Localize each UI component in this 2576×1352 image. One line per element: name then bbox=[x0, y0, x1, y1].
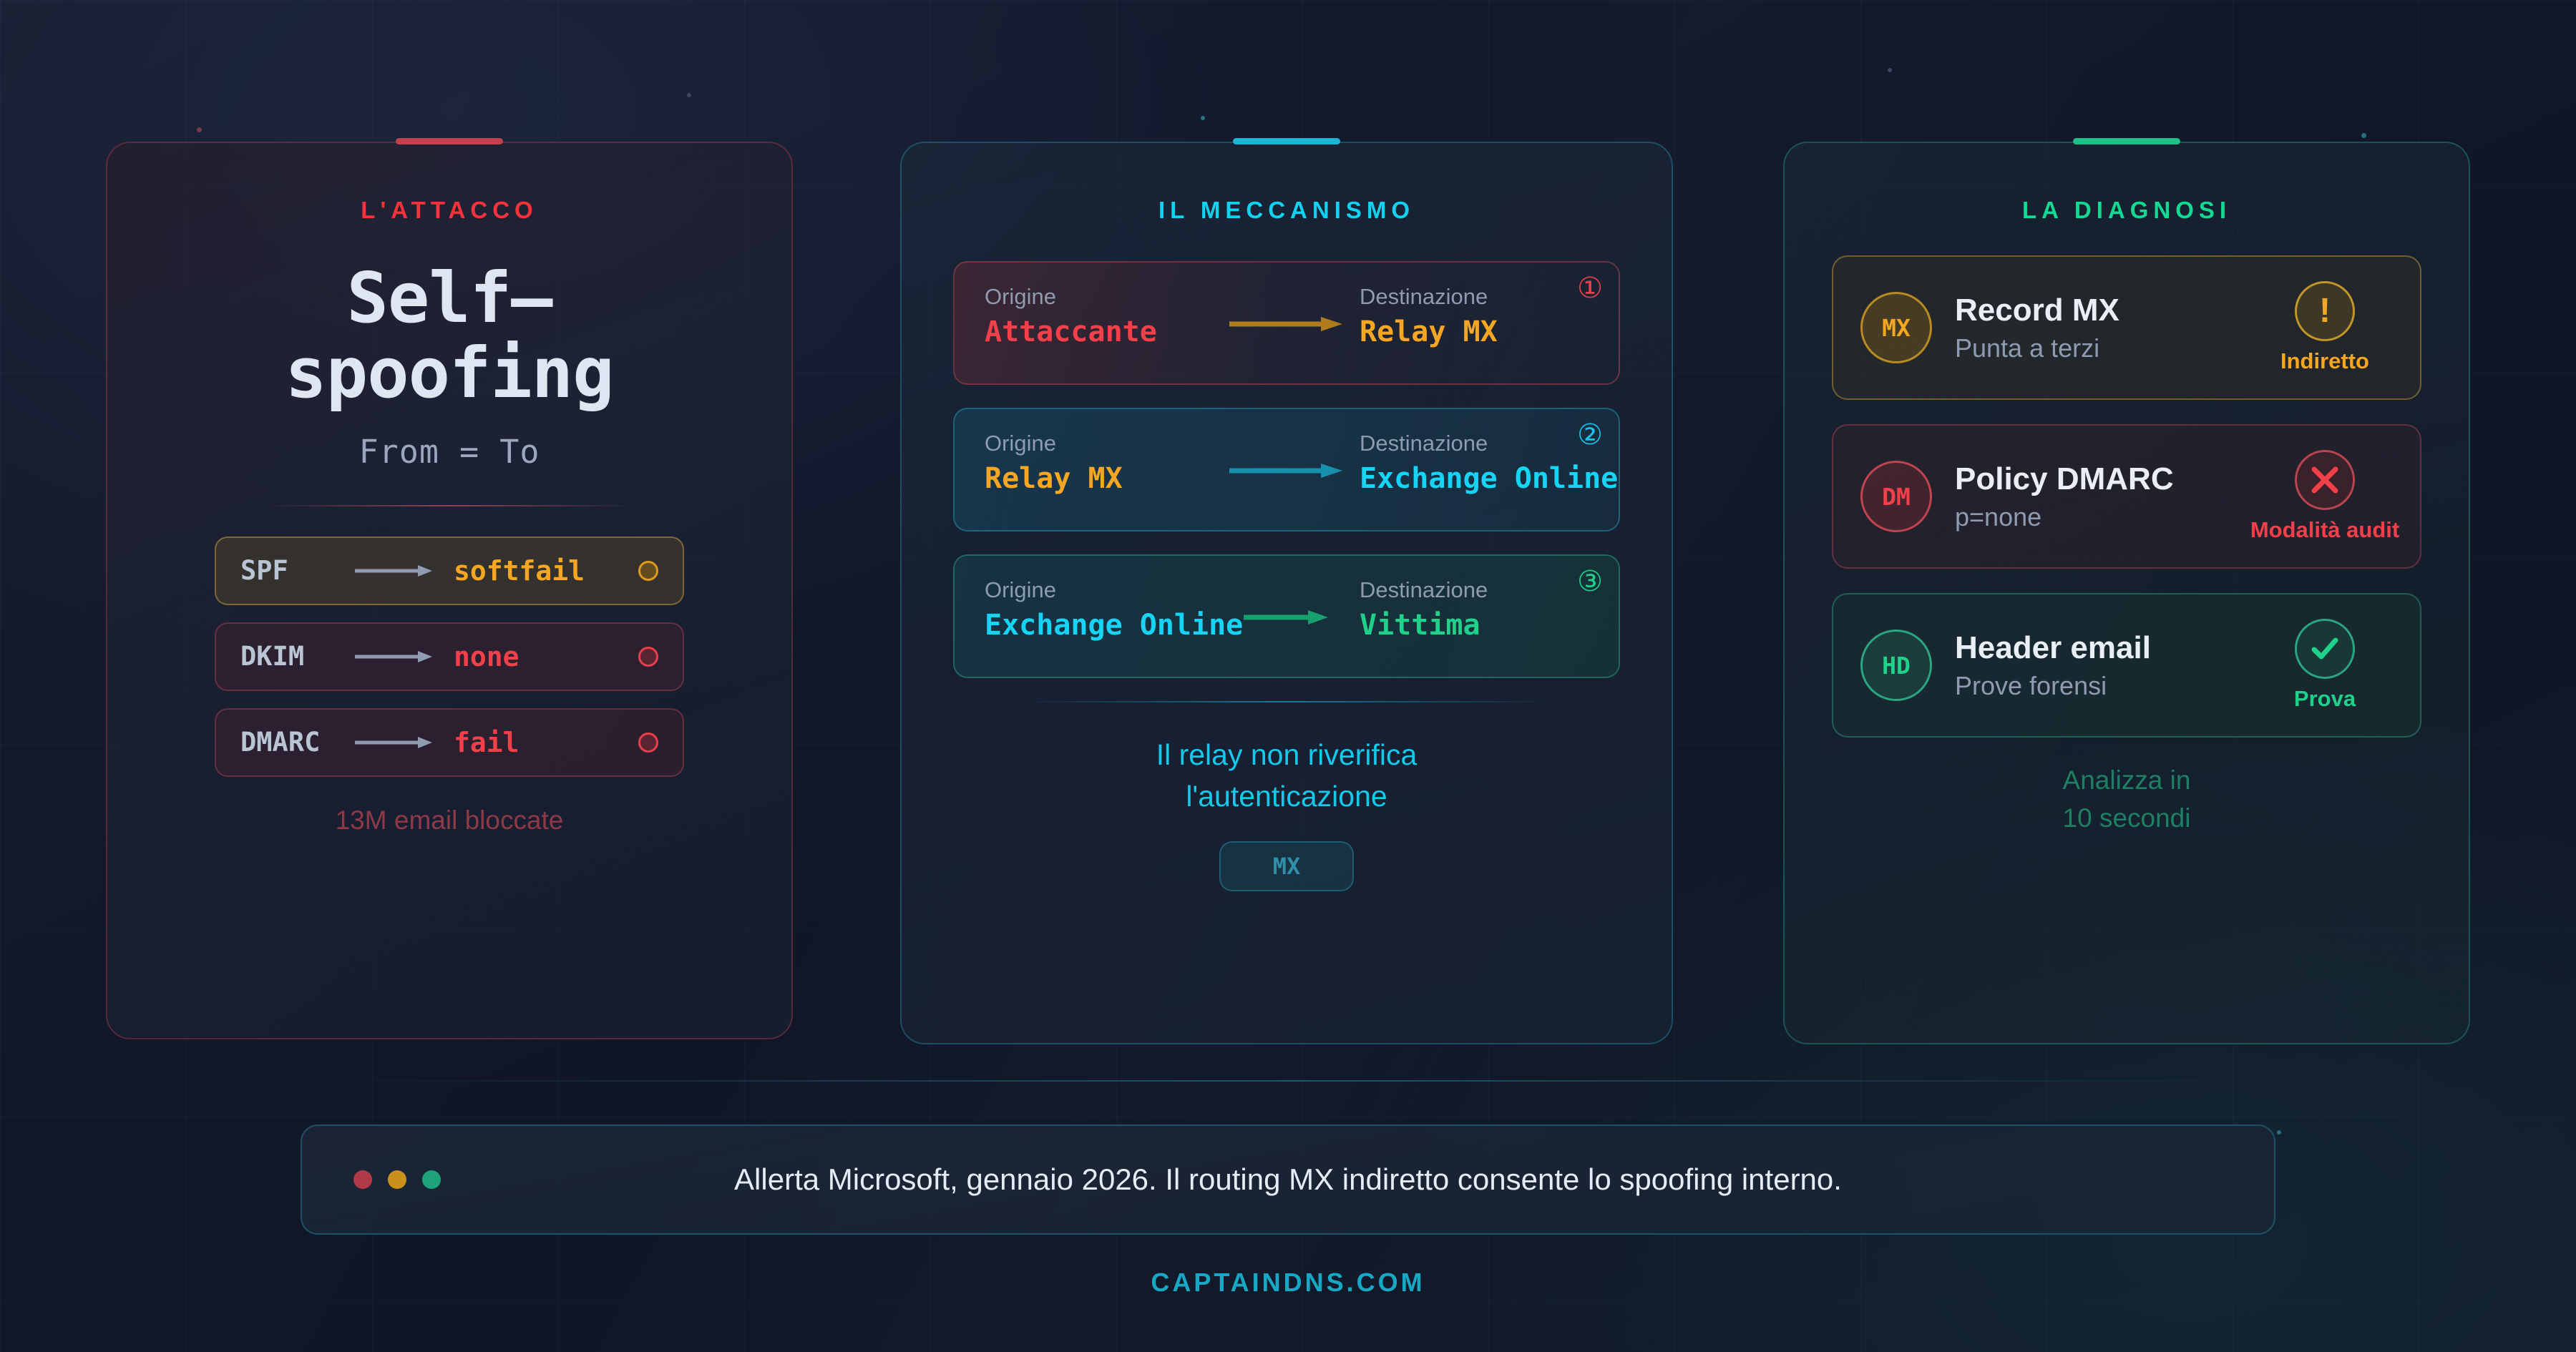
mechanism-card: IL MECCANISMO ① Origine Attaccante bbox=[900, 142, 1673, 1044]
mechanism-note-line2: l'autenticazione bbox=[952, 775, 1621, 817]
step-origin: Origine Attaccante bbox=[985, 284, 1214, 348]
mechanism-note: Il relay non riverifica l'autenticazione bbox=[902, 734, 1672, 817]
mx-badge: MX bbox=[1860, 292, 1932, 363]
diagnosis-row-mx: MX Record MX Punta a terzi ! Indiretto bbox=[1832, 255, 2421, 400]
window-dot-red bbox=[353, 1170, 372, 1189]
mechanism-divider bbox=[1022, 701, 1551, 702]
step-row-2: ② Origine Relay MX Destinazione bbox=[953, 408, 1620, 532]
arrow-right-icon bbox=[1214, 431, 1360, 479]
mechanism-eyebrow: IL MECCANISMO bbox=[902, 197, 1672, 224]
status-dot-icon bbox=[638, 647, 658, 667]
step-origin: Origine Exchange Online bbox=[985, 577, 1214, 642]
auth-row-value: fail bbox=[441, 727, 638, 758]
arrow-right-icon bbox=[355, 650, 441, 664]
auth-row-label: SPF bbox=[240, 555, 355, 586]
diagnosis-row-subtitle: Prove forensi bbox=[1955, 671, 2257, 701]
diagnosis-row-dmarc: DM Policy DMARC p=none Modalità audit bbox=[1832, 424, 2421, 569]
attack-divider bbox=[263, 505, 635, 506]
step-origin-value: Exchange Online bbox=[985, 609, 1214, 642]
attack-footnote: 13M email bloccate bbox=[107, 805, 791, 836]
window-dot-amber bbox=[388, 1170, 406, 1189]
attack-title: Self– spoofing bbox=[107, 261, 791, 411]
step-origin-caption: Origine bbox=[985, 431, 1214, 456]
cross-icon bbox=[2295, 450, 2355, 510]
step-origin-caption: Origine bbox=[985, 284, 1214, 310]
diagnosis-row-title: Header email bbox=[1955, 630, 2257, 666]
step-origin-caption: Origine bbox=[985, 577, 1214, 603]
diagnosis-list: MX Record MX Punta a terzi ! Indiretto D… bbox=[1785, 255, 2469, 738]
attack-subtitle: From = To bbox=[107, 433, 791, 471]
diagnosis-footnote-line2: 10 secondi bbox=[1785, 800, 2469, 838]
bottom-divider bbox=[321, 1080, 2267, 1082]
attack-title-line2: spoofing bbox=[136, 336, 763, 411]
auth-row-label: DKIM bbox=[240, 641, 355, 672]
step-destination: Destinazione Exchange Online bbox=[1360, 431, 1589, 495]
status-badge: Indiretto bbox=[2280, 348, 2369, 374]
diagnosis-row-subtitle: Punta a terzi bbox=[1955, 333, 2257, 363]
arrow-right-icon bbox=[355, 564, 441, 578]
diagnosis-row-title: Record MX bbox=[1955, 293, 2257, 328]
window-dots bbox=[353, 1170, 441, 1189]
diagnosis-card: LA DIAGNOSI MX Record MX Punta a terzi !… bbox=[1783, 142, 2470, 1044]
attack-eyebrow: L'ATTACCO bbox=[107, 197, 791, 224]
step-destination: Destinazione Vittima bbox=[1360, 577, 1589, 642]
step-origin: Origine Relay MX bbox=[985, 431, 1214, 495]
status-badge: Modalità audit bbox=[2250, 517, 2399, 543]
hd-badge: HD bbox=[1860, 630, 1932, 701]
auth-row-value: softfail bbox=[441, 555, 638, 587]
attack-title-line1: Self– bbox=[136, 261, 763, 336]
step-destination-value: Exchange Online bbox=[1360, 462, 1589, 495]
arrow-right-icon bbox=[355, 735, 441, 750]
auth-result-list: SPF softfail DKIM no bbox=[107, 537, 791, 777]
diagnosis-footnote: Analizza in 10 secondi bbox=[1785, 762, 2469, 837]
step-origin-value: Relay MX bbox=[985, 462, 1214, 495]
dm-badge: DM bbox=[1860, 461, 1932, 532]
step-destination: Destinazione Relay MX bbox=[1360, 284, 1589, 348]
card-accent-bar bbox=[2073, 138, 2180, 144]
diagnosis-footnote-line1: Analizza in bbox=[1785, 762, 2469, 800]
diagnosis-row-header: HD Header email Prove forensi Prova bbox=[1832, 593, 2421, 738]
arrow-right-icon bbox=[1214, 577, 1360, 626]
step-row-1: ① Origine Attaccante Destinazione bbox=[953, 261, 1620, 385]
arrow-right-icon bbox=[1214, 284, 1360, 333]
alert-banner: Allerta Microsoft, gennaio 2026. Il rout… bbox=[301, 1125, 2275, 1235]
step-destination-value: Relay MX bbox=[1360, 315, 1589, 348]
attack-card: L'ATTACCO Self– spoofing From = To SPF s… bbox=[106, 142, 793, 1039]
auth-row-value: none bbox=[441, 641, 638, 672]
status-dot-icon bbox=[638, 561, 658, 581]
status-dot-icon bbox=[638, 733, 658, 753]
step-origin-value: Attaccante bbox=[985, 315, 1214, 348]
step-row-3: ③ Origine Exchange Online Destinazione bbox=[953, 554, 1620, 678]
step-destination-caption: Destinazione bbox=[1360, 431, 1589, 456]
step-destination-caption: Destinazione bbox=[1360, 284, 1589, 310]
card-accent-bar bbox=[1233, 138, 1340, 144]
status-badge: Prova bbox=[2294, 686, 2356, 712]
window-dot-green bbox=[422, 1170, 441, 1189]
footer-url: CAPTAINDNS.COM bbox=[0, 1268, 2576, 1298]
step-destination-caption: Destinazione bbox=[1360, 577, 1589, 603]
step-list: ① Origine Attaccante Destinazione bbox=[902, 261, 1672, 678]
diagnosis-eyebrow: LA DIAGNOSI bbox=[1785, 197, 2469, 224]
mx-chip[interactable]: MX bbox=[1219, 841, 1354, 891]
check-icon bbox=[2295, 619, 2355, 679]
mechanism-note-line1: Il relay non riverifica bbox=[952, 734, 1621, 775]
alert-banner-text: Allerta Microsoft, gennaio 2026. Il rout… bbox=[302, 1162, 2274, 1197]
auth-row-dkim: DKIM none bbox=[215, 622, 684, 691]
auth-row-dmarc: DMARC fail bbox=[215, 708, 684, 777]
auth-row-spf: SPF softfail bbox=[215, 537, 684, 605]
step-destination-value: Vittima bbox=[1360, 609, 1589, 642]
card-accent-bar bbox=[396, 138, 503, 144]
auth-row-label: DMARC bbox=[240, 727, 355, 758]
warning-icon: ! bbox=[2295, 281, 2355, 341]
diagnosis-row-title: Policy DMARC bbox=[1955, 461, 2257, 497]
diagnosis-row-subtitle: p=none bbox=[1955, 502, 2257, 532]
